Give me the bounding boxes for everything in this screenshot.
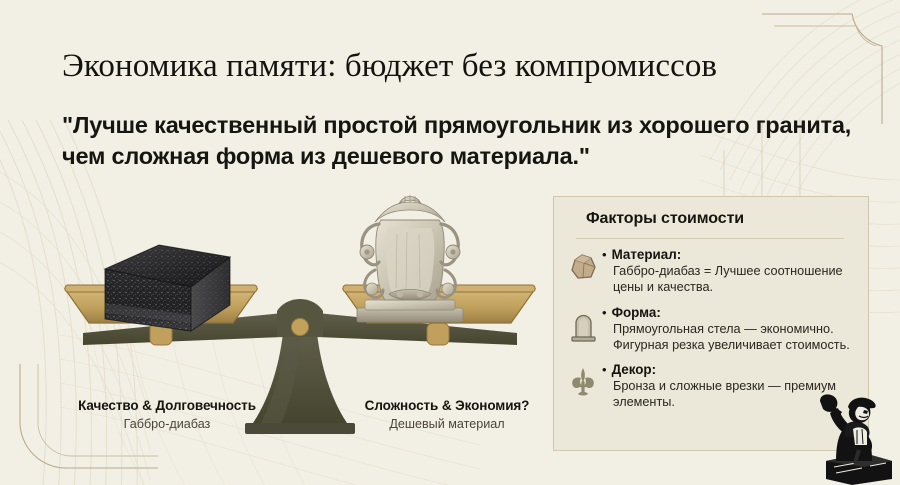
ornate-monument-icon [345,190,475,335]
factor-body-material: • Материал: Габбро-диабаз = Лучшее соотн… [600,247,854,296]
bullet-icon: • [602,306,607,319]
rock-icon [566,250,600,284]
factor-label-material: Материал: [612,247,682,262]
stonemason-illustration-icon [812,387,896,485]
bullet-icon: • [602,363,607,376]
factor-label-decor: Декор: [612,362,657,377]
panel-divider [576,238,844,239]
factor-desc-material: Габбро-диабаз = Лучшее соотношение цены … [602,263,854,296]
granite-block-icon [101,243,234,333]
left-pan-caption-title: Качество & Долговечность [52,398,282,413]
factor-item-shape: • Форма: Прямоугольная стела — экономичн… [554,305,868,354]
gravestone-icon [566,308,600,342]
slide-canvas: Экономика памяти: бюджет без компромиссо… [0,0,900,485]
factor-item-material: • Материал: Габбро-диабаз = Лучшее соотн… [554,247,868,296]
right-pan-caption-title: Сложность & Экономия? [337,398,557,413]
right-pan-caption: Сложность & Экономия? Дешевый материал [337,398,557,431]
left-pan-caption-subtitle: Габбро-диабаз [52,417,282,431]
left-pan-caption: Качество & Долговечность Габбро-диабаз [52,398,282,431]
panel-title: Факторы стоимости [586,210,744,228]
quote-text: "Лучше качественный простой прямоугольни… [62,110,862,172]
factor-head-material: • Материал: [602,247,854,262]
factor-head-decor: • Декор: [602,362,854,377]
bullet-icon: • [602,248,607,261]
factor-body-shape: • Форма: Прямоугольная стела — экономичн… [600,305,854,354]
factor-desc-shape: Прямоугольная стела — экономично. Фигурн… [602,321,854,354]
factor-label-shape: Форма: [612,305,661,320]
right-pan-caption-subtitle: Дешевый материал [337,417,557,431]
fleur-de-lis-icon [566,365,600,399]
page-title: Экономика памяти: бюджет без компромиссо… [62,48,852,85]
factor-head-shape: • Форма: [602,305,854,320]
